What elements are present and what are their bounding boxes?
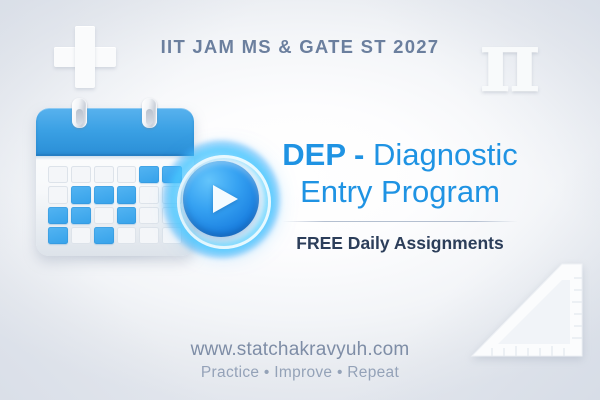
- calendar-cell-4-5: [139, 227, 159, 244]
- footer-tagline: Practice • Improve • Repeat: [0, 364, 600, 382]
- calendar-cell-4-3: [94, 227, 114, 244]
- calendar-cell-4-1: [48, 227, 68, 244]
- calendar-cell-3-1: [48, 207, 68, 224]
- calendar-cell-2-1: [48, 186, 68, 203]
- calendar-cell-3-4: [117, 207, 137, 224]
- play-button[interactable]: [176, 154, 266, 244]
- page-title: IIT JAM MS & GATE ST 2027: [0, 36, 600, 58]
- play-button-disc: [183, 161, 259, 237]
- calendar-cell-2-2: [71, 186, 91, 203]
- copy-block: DEP - Diagnostic Entry Program FREE Dail…: [276, 136, 524, 254]
- calendar-cell-4-2: [71, 227, 91, 244]
- calendar-cell-1-1: [48, 166, 68, 183]
- program-title-line-1: DEP - Diagnostic: [276, 136, 524, 173]
- calendar-cell-2-4: [117, 186, 137, 203]
- calendar-cell-3-5: [139, 207, 159, 224]
- footer: www.statchakravyuh.com Practice • Improv…: [0, 339, 600, 382]
- calendar-cell-2-3: [94, 186, 114, 203]
- pi-icon: π: [470, 22, 550, 104]
- website-url[interactable]: www.statchakravyuh.com: [0, 339, 600, 361]
- play-icon: [213, 185, 238, 213]
- calendar-cell-3-3: [94, 207, 114, 224]
- program-title-word-1: Diagnostic: [373, 137, 518, 172]
- calendar-cell-1-4: [117, 166, 137, 183]
- calendar-cell-1-3: [94, 166, 114, 183]
- calendar-cell-1-5: [139, 166, 159, 183]
- calendar-cell-4-4: [117, 227, 137, 244]
- promo-banner: π IIT JAM MS & GATE ST 2027: [0, 0, 600, 400]
- calendar-cell-1-2: [71, 166, 91, 183]
- program-subtitle: FREE Daily Assignments: [276, 233, 524, 254]
- calendar-cell-2-5: [139, 186, 159, 203]
- program-title-dash: -: [345, 137, 373, 172]
- calendar-header-bar: [36, 108, 194, 156]
- calendar-cell-3-2: [71, 207, 91, 224]
- title-divider: [282, 221, 518, 222]
- calendar-ring-right: [142, 98, 157, 128]
- calendar-ring-left: [72, 98, 87, 128]
- program-abbreviation: DEP: [282, 137, 345, 172]
- program-title-line-2: Entry Program: [276, 173, 524, 210]
